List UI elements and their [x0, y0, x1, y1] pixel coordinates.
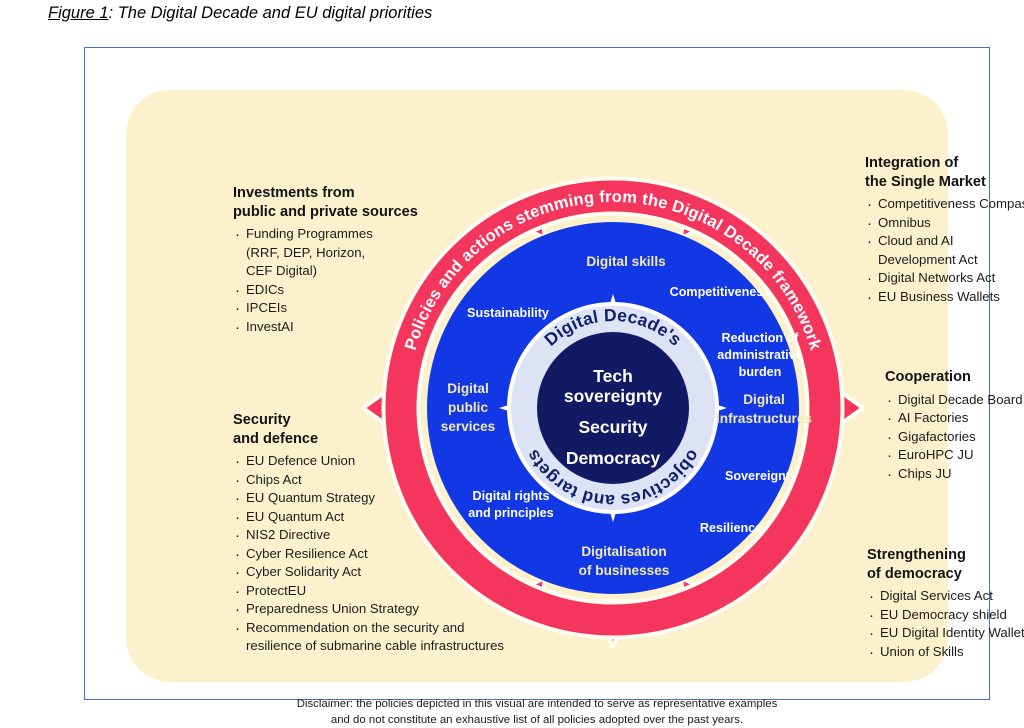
objective-label-resilience: Resilience: [700, 521, 762, 535]
list-item: Digital Networks Act: [865, 269, 1024, 287]
figure-caption: Figure 1: The Digital Decade and EU digi…: [48, 4, 432, 23]
list-item: EuroHPC JU: [885, 446, 1024, 464]
list-item: AI Factories: [885, 409, 1024, 427]
list-item: Digital Decade Board: [885, 391, 1024, 409]
target-label-digital-infrastructures-line1: Digital: [743, 392, 785, 407]
target-label-digital-skills: Digital skills: [586, 254, 665, 269]
block-democracy-title: Strengthening of democracy: [867, 546, 1024, 583]
core-line-security: Security: [578, 417, 647, 437]
target-label-public-services-line1: Digital: [447, 381, 489, 396]
target-label-public-services-line3: services: [441, 419, 495, 434]
figure-label: Figure 1: [48, 4, 109, 22]
list-item: EU Digital Identity Wallets: [867, 624, 1024, 642]
objective-label-competitiveness: Competitiveness: [670, 285, 771, 299]
disclaimer-text: Disclaimer: the policies depicted in thi…: [85, 696, 989, 728]
objective-label-reduction-line1: Reduction of: [722, 331, 800, 345]
core-line-sovereignty: sovereignty: [564, 386, 662, 406]
core-line-tech: Tech: [593, 366, 633, 386]
figure-separator: :: [109, 4, 118, 22]
list-item: EU Business Wallets: [865, 288, 1024, 306]
block-democracy-list: Digital Services Act EU Democracy shield…: [867, 587, 1024, 661]
list-item: Cloud and AI Development Act: [865, 232, 1024, 269]
block-integration-list: Competitiveness Compass Omnibus Cloud an…: [865, 195, 1024, 306]
target-label-digitalisation-line1: Digitalisation: [581, 544, 666, 559]
list-item: EU Democracy shield: [867, 606, 1024, 624]
list-item: Union of Skills: [867, 643, 1024, 661]
block-cooperation-title: Cooperation: [885, 368, 1024, 387]
objective-label-digital-rights-line1: Digital rights: [473, 489, 550, 503]
block-strengthening-democracy: Strengthening of democracy Digital Servi…: [867, 546, 1024, 661]
list-item: Gigafactories: [885, 428, 1024, 446]
objective-label-reduction-line2: administrative: [717, 348, 802, 362]
block-integration-single-market: Integration of the Single Market Competi…: [865, 154, 1024, 306]
objective-label-sovereignty: Sovereignty: [725, 469, 797, 483]
core-line-democracy: Democracy: [566, 448, 661, 468]
target-label-digitalisation-line2: of businesses: [579, 563, 670, 578]
block-integration-title: Integration of the Single Market: [865, 154, 1024, 191]
list-item: Digital Services Act: [867, 587, 1024, 605]
list-item: Competitiveness Compass: [865, 195, 1024, 213]
figure-title: The Digital Decade and EU digital priori…: [118, 4, 433, 22]
digital-decade-diagram: Policies and actions stemming from the D…: [363, 146, 863, 670]
objective-label-digital-rights-line2: and principles: [468, 506, 553, 520]
list-item: Omnibus: [865, 214, 1024, 232]
figure-frame: Investments from public and private sour…: [84, 47, 990, 700]
target-label-public-services-line2: public: [448, 400, 488, 415]
target-label-digital-infrastructures-line2: infrastructures: [716, 411, 812, 426]
objective-label-reduction-line3: burden: [739, 365, 782, 379]
block-cooperation-list: Digital Decade Board AI Factories Gigafa…: [885, 391, 1024, 483]
objective-label-sustainability: Sustainability: [467, 306, 549, 320]
block-cooperation: Cooperation Digital Decade Board AI Fact…: [885, 368, 1024, 483]
list-item: Chips JU: [885, 465, 1024, 483]
